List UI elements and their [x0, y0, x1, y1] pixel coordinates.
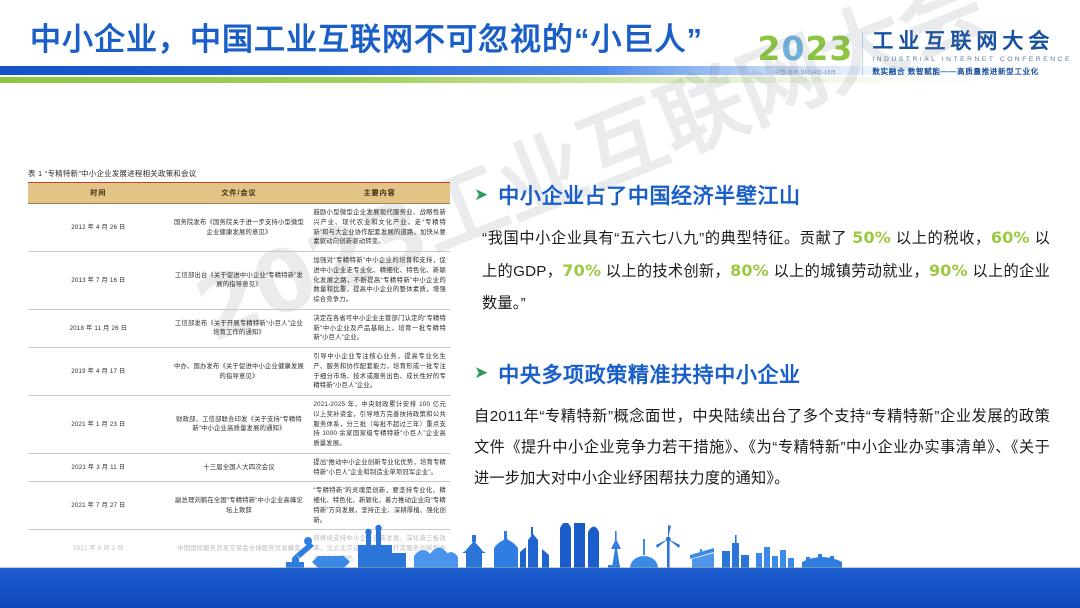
section-heading: ➤中央多项政策精准扶持中小企业 — [474, 359, 1050, 389]
cell-date: 2013 年 7 月 16 日 — [28, 252, 169, 310]
logo-chinese-name: 工业互联网大会 — [872, 31, 1072, 53]
paragraph-text: 以上的税收， — [891, 230, 991, 247]
table-caption: 表 1 “专精特新”中小企业发展进程相关政策和会议 — [28, 168, 450, 183]
cell-document: 十三届全国人大四次会议 — [169, 453, 310, 482]
cell-content: 2021-2025 年，中央财政累计安排 100 亿元以上奖补资金，引导地方完善… — [309, 396, 450, 454]
table-row: 2021 年 1 月 23 日财政部、工信部联合印发《关于支持“专精特新”中小企… — [28, 396, 450, 454]
paragraph-text: 自2011年“专精特新”概念面世，中央陆续出台了多个支持“专精特新”企业发展的政… — [474, 408, 1050, 487]
cell-date: 2021 年 1 月 23 日 — [28, 396, 169, 454]
page-title: 中小企业，中国工业互联网不可忽视的“小巨人” — [30, 14, 703, 59]
table-row: 2012 年 4 月 26 日国务院发布《国务院关于进一步支持小型微型企业健康发… — [28, 204, 450, 252]
cell-content: 引导中小企业专注核心业务，提高专业化生产、服务和协作配套能力，培育形成一批专注于… — [309, 348, 450, 396]
section-paragraph: 自2011年“专精特新”概念面世，中央陆续出台了多个支持“专精特新”企业发展的政… — [474, 401, 1050, 494]
cell-date: 2019 年 4 月 17 日 — [28, 348, 169, 396]
col-header-body: 主要内容 — [309, 183, 450, 204]
logo-english-name: INDUSTRIAL INTERNET CONFERENCE — [872, 56, 1072, 63]
section-gap — [474, 319, 1050, 359]
policy-table-head: 时间 文件/会议 主要内容 — [28, 183, 450, 204]
section-heading: ➤中小企业占了中国经济半壁江山 — [474, 180, 1050, 210]
cell-date: 2012 年 4 月 26 日 — [28, 204, 169, 252]
slide: 中小企业，中国工业互联网不可忽视的“小巨人” 2023 中国·苏州 9月14日-… — [0, 0, 1080, 608]
conference-logo: 2023 中国·苏州 9月14日-18日 工业互联网大会 INDUSTRIAL … — [757, 24, 1072, 84]
logo-divider — [862, 32, 863, 76]
logo-place-date: 中国·苏州 9月14日-18日 — [775, 69, 837, 76]
cell-date: 2021 年 3 月 11 日 — [28, 453, 169, 482]
content-column: ➤中小企业占了中国经济半壁江山“我国中小企业具有“五六七八九”的典型特征。贡献了… — [474, 180, 1050, 494]
arrow-bullet-icon: ➤ — [474, 186, 488, 203]
highlight-percentage: 90% — [929, 261, 968, 280]
cell-content: 加强对“专精特新”中小企业的培育和支持，促进中小企业走专业化、精细化、特色化、新… — [309, 252, 450, 310]
logo-year: 2023 — [757, 32, 853, 65]
logo-slogan: 数实融合 数智赋能——高质量推进新型工业化 — [872, 66, 1072, 77]
section-paragraph: “我国中小企业具有“五六七八九”的典型特征。贡献了 50% 以上的税收，60% … — [474, 222, 1050, 319]
cell-document: 国务院发布《国务院关于进一步支持小型微型企业健康发展的意见》 — [169, 204, 310, 252]
cell-document: 财政部、工信部联合印发《关于支持“专精特新”中小企业高质量发展的通知》 — [169, 396, 310, 454]
arrow-bullet-icon: ➤ — [474, 364, 488, 381]
highlight-percentage: 80% — [730, 261, 769, 280]
section-title: 中央多项政策精准扶持中小企业 — [498, 359, 800, 389]
city-skyline-icon — [0, 523, 1080, 568]
footer-decoration — [0, 528, 1080, 608]
col-header-doc: 文件/会议 — [169, 183, 310, 204]
col-header-time: 时间 — [28, 183, 169, 204]
table-row: 2021 年 3 月 11 日十三届全国人大四次会议提出“推动中小企业创新专业化… — [28, 453, 450, 482]
table-row: 2018 年 11 月 26 日工信部发布《关于开展专精特新“小巨人”企业培育工… — [28, 309, 450, 347]
logo-text-block: 工业互联网大会 INDUSTRIAL INTERNET CONFERENCE 数… — [872, 31, 1072, 77]
section-title: 中小企业占了中国经济半壁江山 — [498, 180, 800, 210]
highlight-percentage: 70% — [562, 261, 601, 280]
table-row: 2013 年 7 月 16 日工信部出台《关于促进中小企业“专精特新”发展的指导… — [28, 252, 450, 310]
ground-plane — [0, 568, 1080, 608]
paragraph-text: “我国中小企业具有“五六七八九”的典型特征。贡献了 — [482, 230, 852, 247]
logo-year-block: 2023 中国·苏州 9月14日-18日 — [757, 32, 862, 76]
cell-date: 2018 年 11 月 26 日 — [28, 309, 169, 347]
slide-header: 中小企业，中国工业互联网不可忽视的“小巨人” 2023 中国·苏州 9月14日-… — [0, 0, 1080, 96]
cell-document: 中办、国办发布《关于促进中小企业健康发展的指导意见》 — [169, 348, 310, 396]
paragraph-text: 以上的城镇劳动就业， — [769, 263, 929, 280]
highlight-percentage: 60% — [991, 228, 1030, 247]
cell-document: 工信部发布《关于开展专精特新“小巨人”企业培育工作的通知》 — [169, 309, 310, 347]
cell-content: 决定在各省可中小企业主管部门认定的“专精特新”中小企业及产品基础上，培育一批专精… — [309, 309, 450, 347]
cell-content: 鼓励小型微型企业发展现代服务业、战略性新兴产业、现代农业和文化产业，走“专精特新… — [309, 204, 450, 252]
table-row: 2019 年 4 月 17 日中办、国办发布《关于促进中小企业健康发展的指导意见… — [28, 348, 450, 396]
policy-table-header-row: 时间 文件/会议 主要内容 — [28, 183, 450, 204]
cell-document: 工信部出台《关于促进中小企业“专精特新”发展的指导意见》 — [169, 252, 310, 310]
highlight-percentage: 50% — [852, 228, 891, 247]
paragraph-text: 以上的技术创新， — [601, 263, 730, 280]
cell-content: 提出“推动中小企业创新专业化优势，培育专精特新“小巨人”企业和制造业单项冠军企业… — [309, 453, 450, 482]
